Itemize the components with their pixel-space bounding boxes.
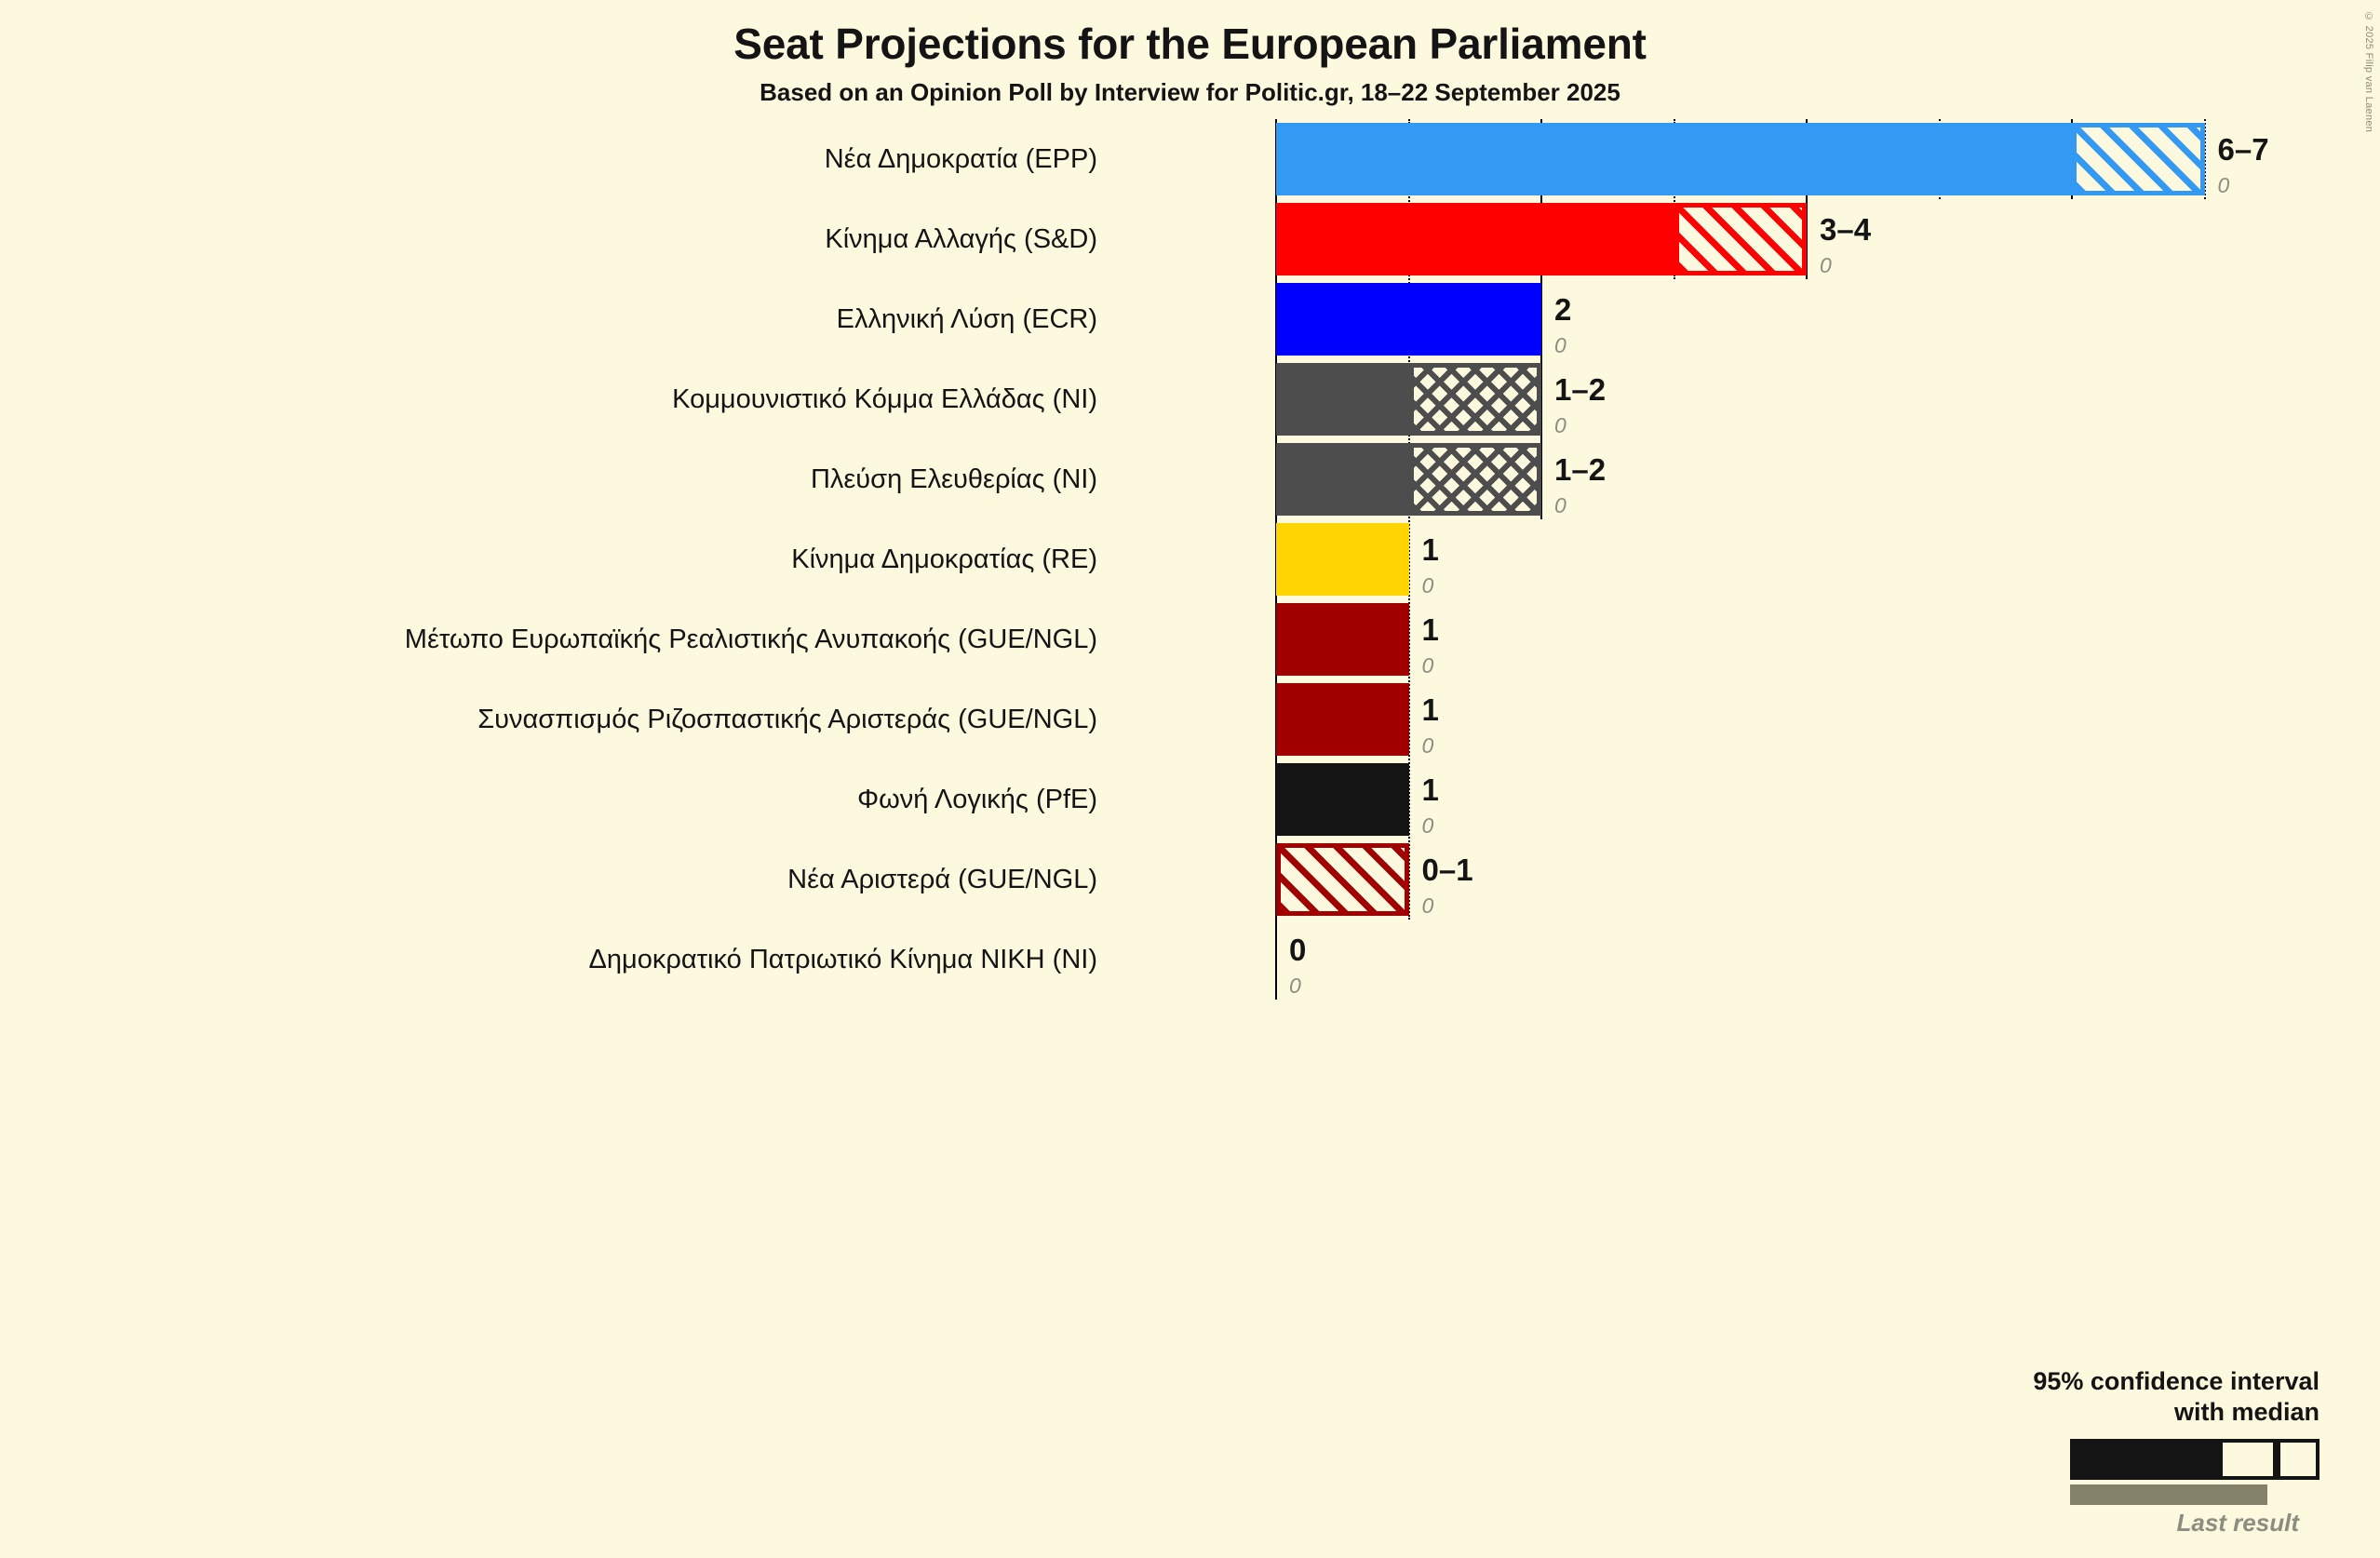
bar-value-range: 0 [1289,920,1306,965]
chart-row: Νέα Αριστερά (GUE/NGL)0–10 [0,839,2380,920]
bar-category-label: Κίνημα Δημοκρατίας (RE) [791,519,1097,599]
bar-last-result-value: 0 [1554,325,1571,356]
bar-group [1276,923,1277,996]
bar-median-segment [1276,523,1409,596]
bar-value-range: 1 [1422,679,1439,725]
bar-group [1276,603,1409,676]
bar-category-label: Δημοκρατικό Πατριωτικό Κίνημα ΝΙΚΗ (NI) [589,920,1098,1000]
bar-median-segment [1276,363,1409,436]
chart-row: Κομμουνιστικό Κόμμα Ελλάδας (NI)1–20 [0,359,2380,439]
bar-value-range: 1 [1422,599,1439,645]
legend-diagonal-swatch [2277,1439,2319,1480]
bar-value-range: 1 [1422,759,1439,805]
bar-category-label: Φωνή Λογικής (PfE) [857,759,1097,839]
bar-value-label: 3–40 [1820,199,1871,272]
bar-group [1276,123,2205,195]
bar-category-label: Κίνημα Αλλαγής (S&D) [825,199,1097,279]
bar-last-result-value: 0 [1422,725,1439,757]
chart-row: Φωνή Λογικής (PfE)10 [0,759,2380,839]
bar-value-label: 20 [1554,279,1571,352]
legend-last-result-swatch [2070,1484,2267,1505]
bar-median-segment [1276,603,1409,676]
chart-row: Ελληνική Λύση (ECR)20 [0,279,2380,359]
bar-value-range: 6–7 [2218,119,2269,165]
chart-row: Κίνημα Αλλαγής (S&D)3–40 [0,199,2380,279]
bar-median-segment [1276,443,1409,516]
chart-header: Seat Projections for the European Parlia… [0,0,2380,107]
bar-confidence-interval-segment [2072,123,2205,195]
legend-interval-bar [2070,1439,2319,1480]
bar-category-label: Μέτωπο Ευρωπαϊκής Ρεαλιστικής Ανυπακοής … [405,599,1097,679]
bar-median-segment [1276,763,1409,836]
bar-value-range: 2 [1554,279,1571,325]
bar-value-range: 1–2 [1554,359,1606,405]
bar-confidence-interval-segment [1409,363,1542,436]
legend-median-swatch [2070,1439,2219,1480]
legend-last-result-label: Last result [1929,1509,2299,1538]
bar-category-label: Κομμουνιστικό Κόμμα Ελλάδας (NI) [672,359,1097,439]
page-title: Seat Projections for the European Parlia… [0,0,2380,69]
chart-row: Μέτωπο Ευρωπαϊκής Ρεαλιστικής Ανυπακοής … [0,599,2380,679]
bar-confidence-interval-segment [1276,843,1409,916]
bar-last-result-value: 0 [1422,645,1439,677]
bar-last-result-value: 0 [1554,405,1606,437]
bar-value-range: 3–4 [1820,199,1871,245]
bar-category-label: Nέα Δημοκρατία (EPP) [825,119,1097,199]
chart-row: Πλεύση Ελευθερίας (NI)1–20 [0,439,2380,519]
bar-group [1276,523,1409,596]
bar-value-label: 10 [1422,599,1439,672]
chart-row: Δημοκρατικό Πατριωτικό Κίνημα ΝΙΚΗ (NI)0… [0,920,2380,1000]
bar-group [1276,763,1409,836]
bar-value-label: 10 [1422,519,1439,592]
bar-median-segment [1276,683,1409,756]
bar-confidence-interval-segment [1674,203,1808,275]
chart-row: Συνασπισμός Ριζοσπαστικής Αριστεράς (GUE… [0,679,2380,759]
bar-last-result-value: 0 [1554,485,1606,517]
bar-value-label: 1–20 [1554,439,1606,512]
chart-row: Nέα Δημοκρατία (EPP)6–70 [0,119,2380,199]
legend-line-1: 95% confidence interval [2033,1367,2319,1395]
bar-group [1276,363,1541,436]
bar-value-label: 0–10 [1422,839,1473,912]
bar-value-label: 1–20 [1554,359,1606,432]
bar-value-range: 1 [1422,519,1439,565]
bar-value-label: 6–70 [2218,119,2269,192]
bar-last-result-value: 0 [1422,805,1439,837]
bar-category-label: Ελληνική Λύση (ECR) [837,279,1097,359]
bar-group [1276,203,1807,275]
bar-last-result-value: 0 [1422,885,1473,917]
bar-value-label: 10 [1422,759,1439,832]
bar-value-label: 10 [1422,679,1439,752]
bar-group [1276,283,1541,356]
legend-title: 95% confidence interval with median [1929,1366,2319,1428]
legend-line-2: with median [2174,1398,2319,1426]
bar-group [1276,843,1409,916]
bar-category-label: Πλεύση Ελευθερίας (NI) [811,439,1097,519]
bar-value-range: 0–1 [1422,839,1473,885]
bar-group [1276,683,1409,756]
copyright-notice: © 2025 Filip van Laenen [2363,11,2374,132]
bar-value-label: 00 [1289,920,1306,992]
bar-median-segment [1276,203,1674,275]
bar-group [1276,443,1541,516]
chart-subtitle: Based on an Opinion Poll by Interview fo… [0,69,2380,107]
bar-value-range: 1–2 [1554,439,1606,485]
legend-crosshatch-swatch [2219,1439,2277,1480]
chart-row: Κίνημα Δημοκρατίας (RE)10 [0,519,2380,599]
bar-median-segment [1276,123,2072,195]
bar-category-label: Συνασπισμός Ριζοσπαστικής Αριστεράς (GUE… [477,679,1097,759]
bar-last-result-value: 0 [1820,245,1871,276]
chart-legend: 95% confidence interval with median Last… [1929,1366,2319,1538]
chart-plot-area: Nέα Δημοκρατία (EPP)6–70Κίνημα Αλλαγής (… [0,119,2380,1543]
bar-category-label: Νέα Αριστερά (GUE/NGL) [787,839,1097,920]
bar-last-result-value: 0 [2218,165,2269,196]
bar-median-segment [1276,283,1541,356]
bar-confidence-interval-segment [1409,443,1542,516]
bar-last-result-value: 0 [1422,565,1439,597]
bar-last-result-value: 0 [1289,965,1306,997]
